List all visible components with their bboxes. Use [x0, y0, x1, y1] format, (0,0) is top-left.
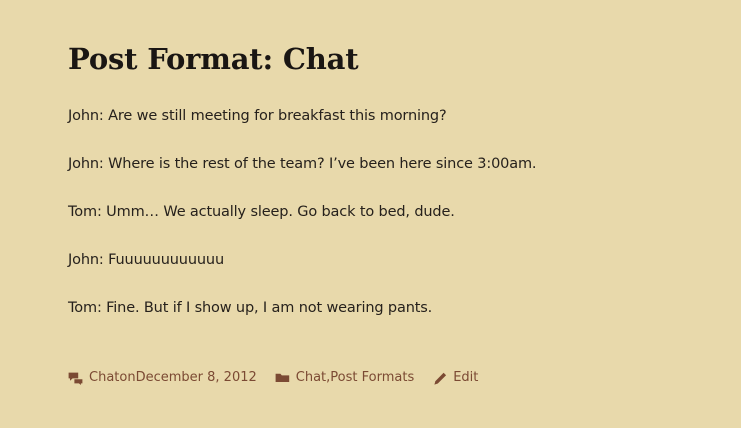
post-content: John: Are we still meeting for breakfast… — [68, 106, 688, 318]
edit-link[interactable]: Edit — [453, 370, 478, 386]
category-link-chat[interactable]: Chat — [296, 370, 326, 386]
page-title: Post Format: Chat — [68, 42, 358, 76]
chat-line: John: Are we still meeting for breakfast… — [68, 106, 688, 126]
comment-bubbles-icon — [68, 371, 83, 385]
pencil-icon — [432, 371, 447, 385]
chat-line: John: Where is the rest of the team? I’v… — [68, 154, 688, 174]
meta-connector: on — [119, 370, 135, 386]
chat-line: Tom: Fine. But if I show up, I am not we… — [68, 298, 688, 318]
entry-meta: Chat on December 8, 2012 Chat, Post Form… — [68, 370, 478, 386]
chat-line: John: Fuuuuuuuuuuuu — [68, 250, 688, 270]
comments-link[interactable]: Chat — [89, 370, 119, 386]
meta-categories: Chat, Post Formats — [275, 370, 414, 386]
meta-edit: Edit — [432, 370, 478, 386]
post-date-link[interactable]: December 8, 2012 — [136, 370, 257, 386]
chat-line: Tom: Umm… We actually sleep. Go back to … — [68, 202, 688, 222]
meta-comments: Chat on December 8, 2012 — [68, 370, 257, 386]
folder-icon — [275, 371, 290, 385]
category-link-post-formats[interactable]: Post Formats — [330, 370, 414, 386]
